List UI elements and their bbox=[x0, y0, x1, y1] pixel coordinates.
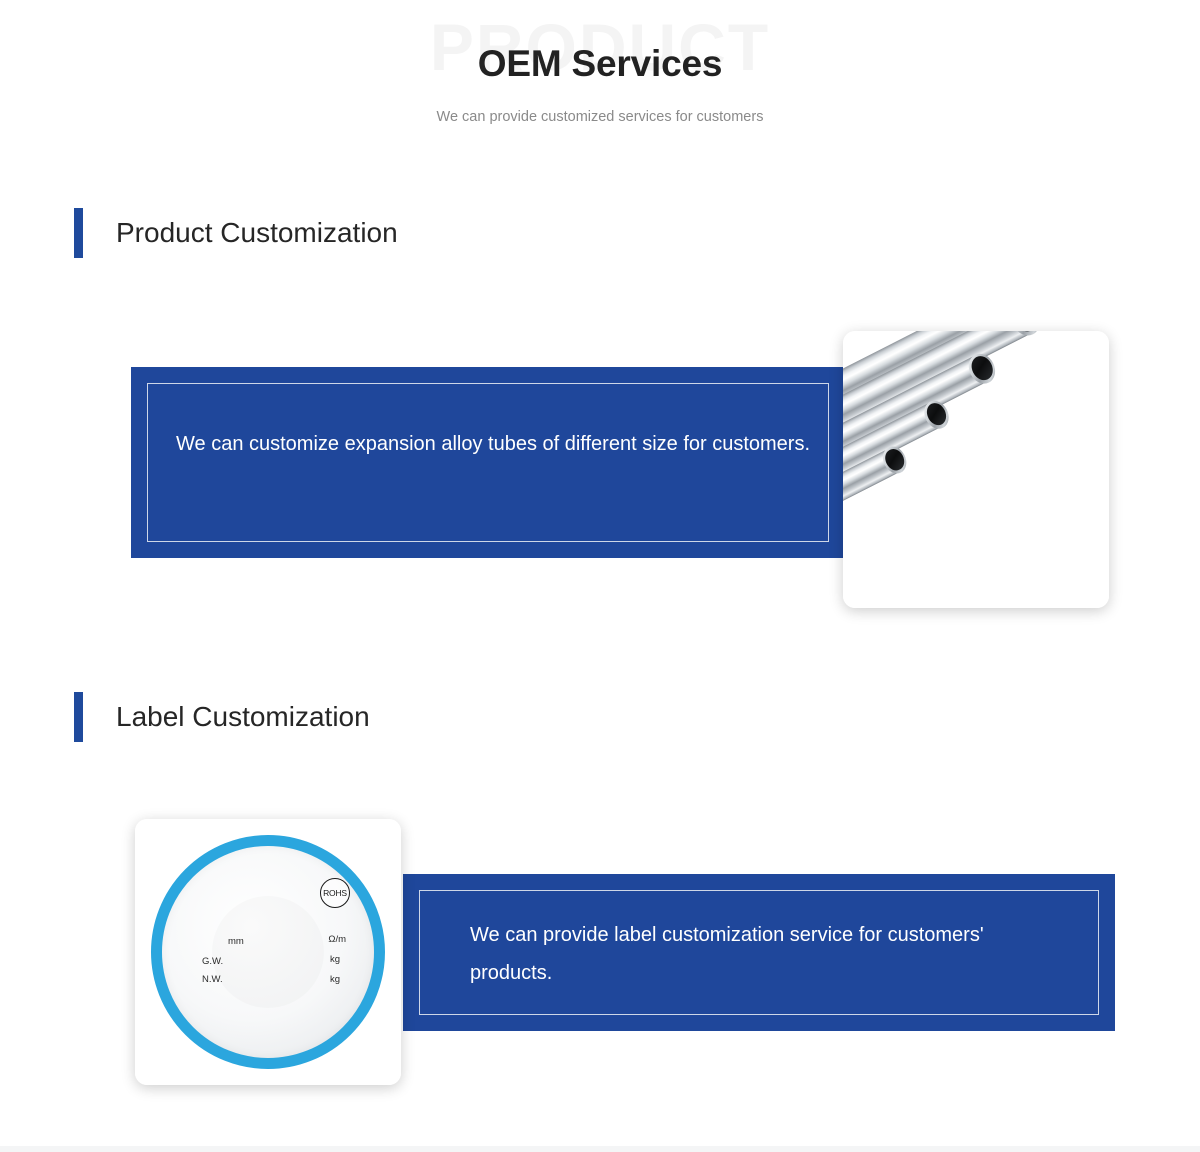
label-field-gross-weight: G.W. bbox=[202, 956, 223, 967]
product-customization-message-panel: We can customize expansion alloy tubes o… bbox=[131, 367, 845, 558]
page-bottom-strip bbox=[0, 1146, 1200, 1152]
label-customization-message-panel: We can provide label customization servi… bbox=[403, 874, 1115, 1031]
stainless-steel-tubes-photo bbox=[843, 331, 1109, 608]
section-heading-label: Product Customization bbox=[116, 216, 398, 250]
product-customization-message-text: We can customize expansion alloy tubes o… bbox=[176, 425, 816, 463]
svg-text:www.dlx-alloy.com: www.dlx-alloy.com bbox=[215, 1042, 320, 1044]
heading-accent-bar bbox=[74, 208, 83, 258]
label-field-kg-net: kg bbox=[330, 974, 340, 985]
label-disc: ROHS mm G.W. N.W. Ω/m kg kg www.dlx-allo… bbox=[151, 835, 385, 1069]
label-customization-message-text: We can provide label customization servi… bbox=[470, 916, 1070, 992]
page-subtitle: We can provide customized services for c… bbox=[0, 107, 1200, 127]
rohs-icon: ROHS bbox=[320, 878, 350, 908]
label-url-text: www.dlx-alloy.com bbox=[215, 1042, 320, 1044]
label-field-resistance-unit: Ω/m bbox=[328, 934, 346, 945]
section-heading-label-customization: Label Customization bbox=[74, 692, 370, 742]
oem-services-page: PRODUCT OEM Services We can provide cust… bbox=[0, 0, 1200, 1152]
label-field-mm: mm bbox=[228, 936, 244, 947]
label-field-kg-gross: kg bbox=[330, 954, 340, 965]
section-heading-label: Label Customization bbox=[116, 700, 370, 734]
label-field-net-weight: N.W. bbox=[202, 974, 223, 985]
round-product-label-photo: ROHS mm G.W. N.W. Ω/m kg kg www.dlx-allo… bbox=[135, 819, 401, 1085]
label-customization-image-card: ROHS mm G.W. N.W. Ω/m kg kg www.dlx-allo… bbox=[135, 819, 401, 1085]
page-header: PRODUCT OEM Services We can provide cust… bbox=[0, 0, 1200, 150]
label-website-url: www.dlx-alloy.com bbox=[178, 1002, 358, 1044]
page-title: OEM Services bbox=[0, 42, 1200, 86]
heading-accent-bar bbox=[74, 692, 83, 742]
label-inner-ring bbox=[212, 896, 324, 1008]
section-heading-product-customization: Product Customization bbox=[74, 208, 398, 258]
product-customization-image-card bbox=[843, 331, 1109, 608]
